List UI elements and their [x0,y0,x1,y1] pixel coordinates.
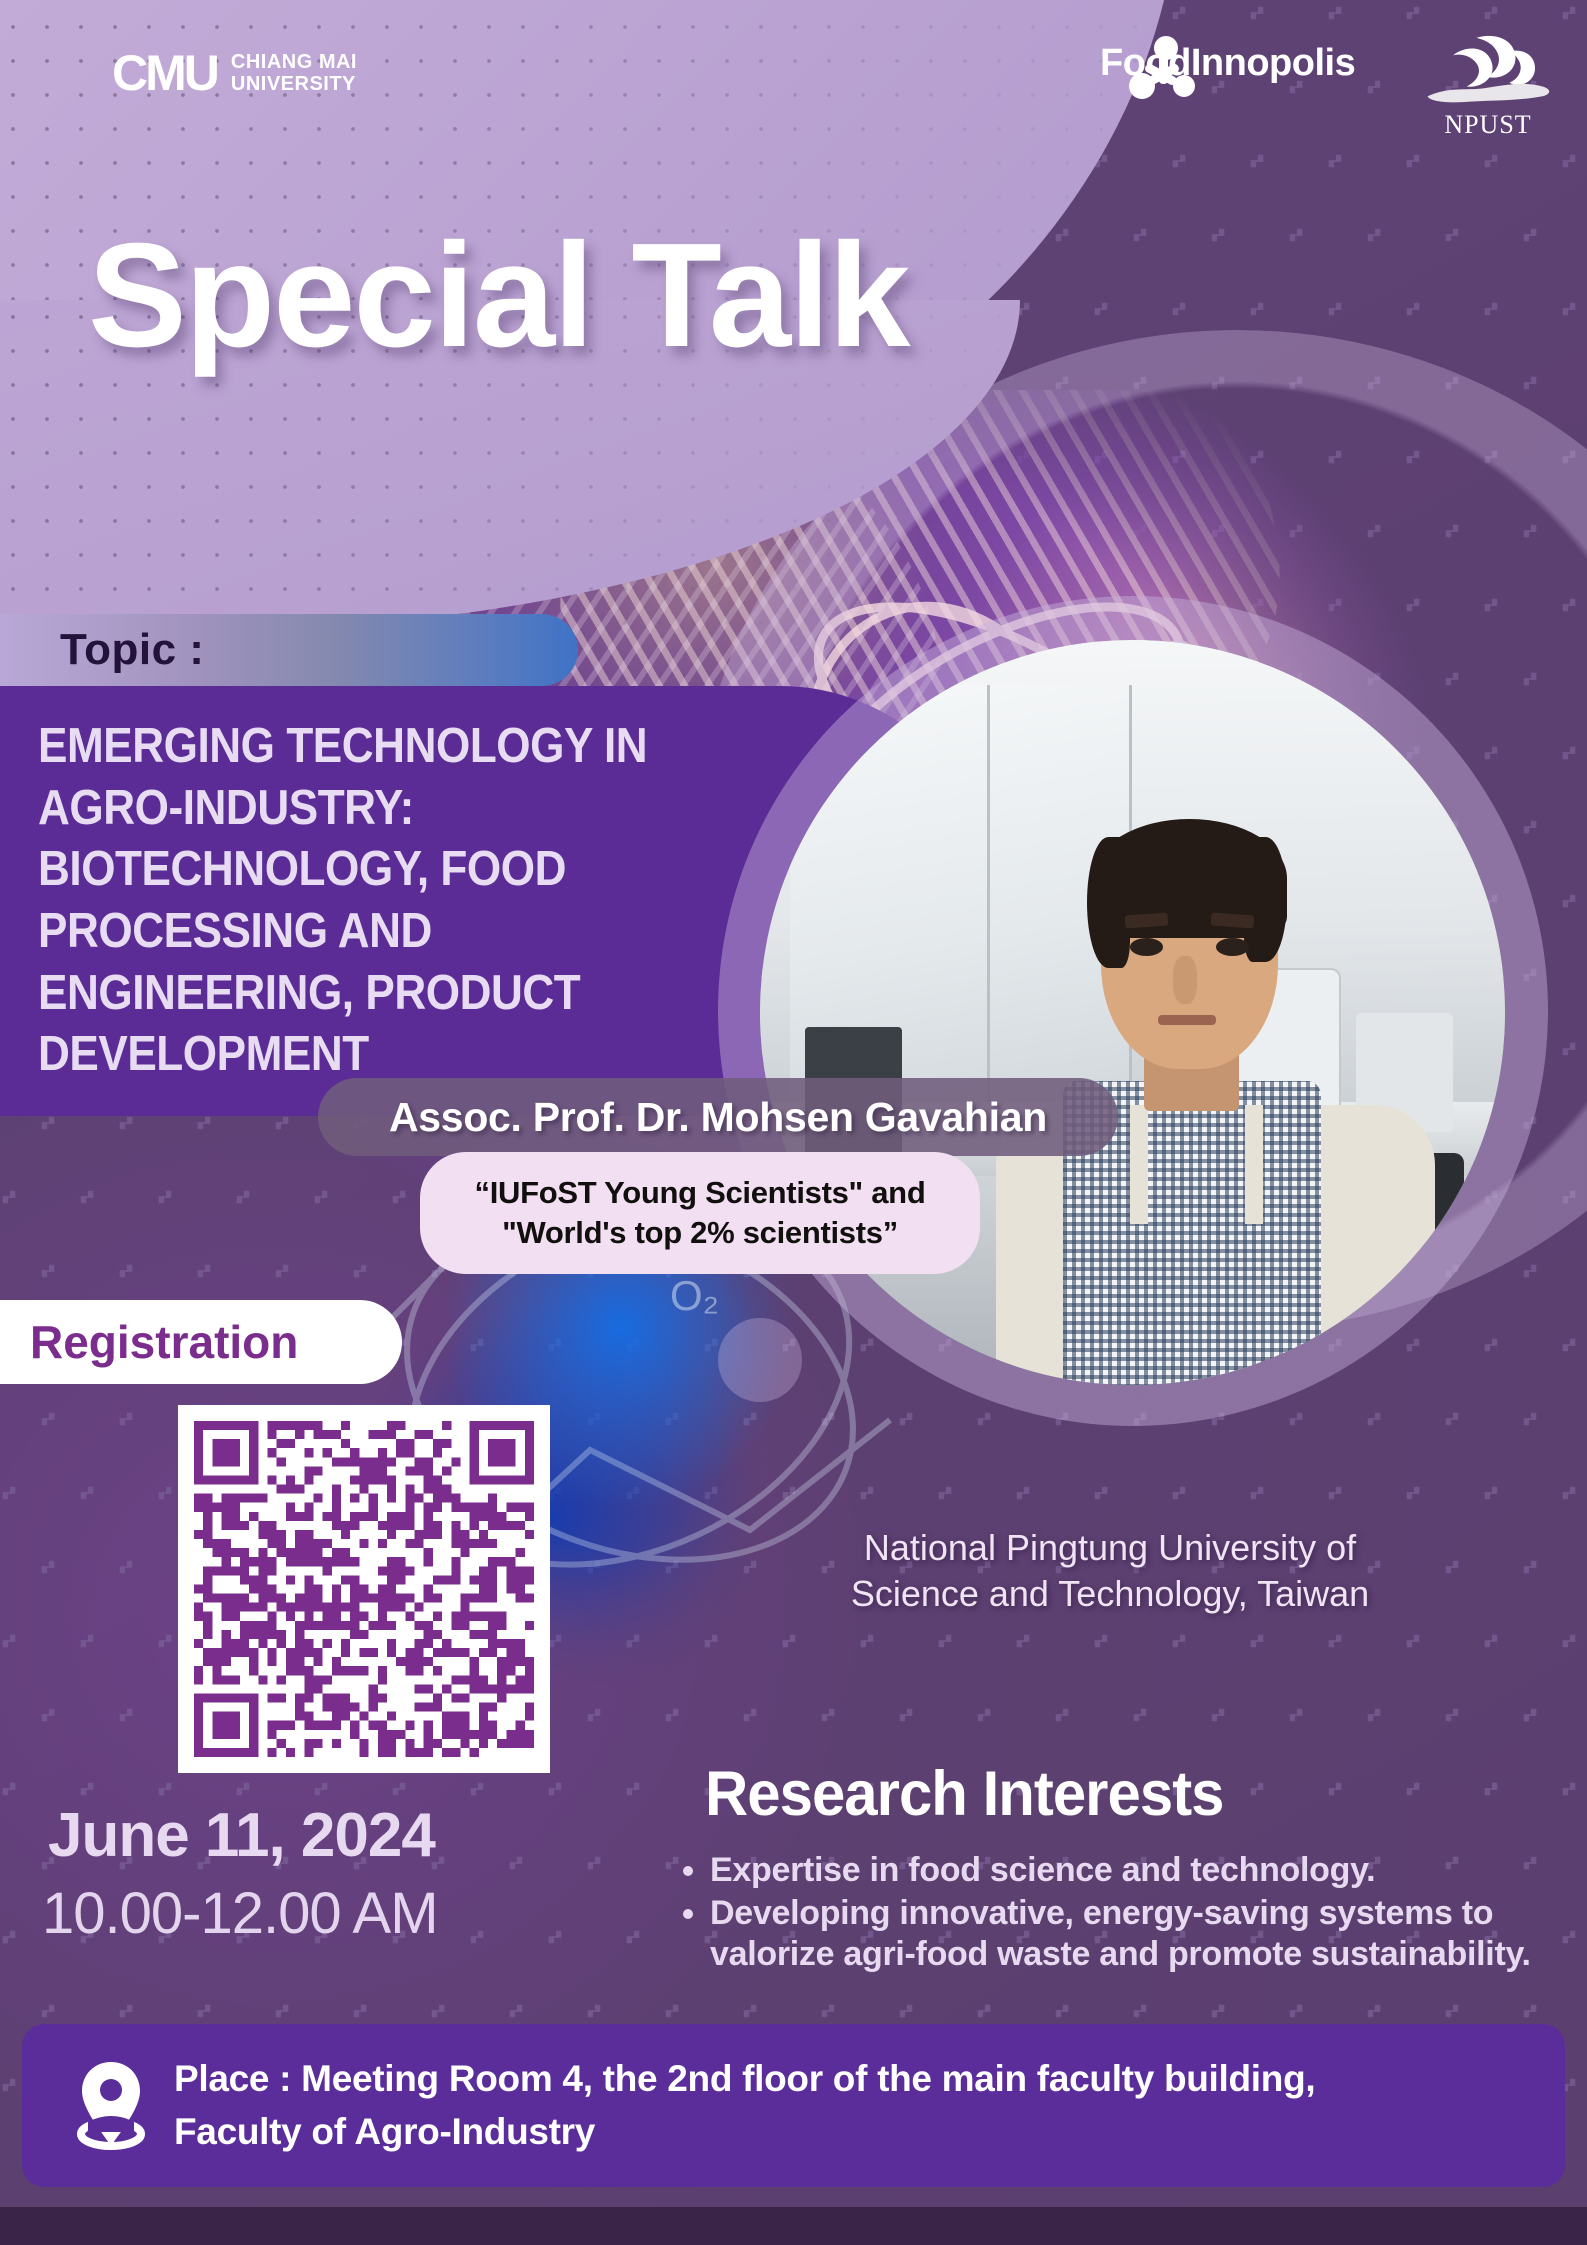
page-title: Special Talk [88,222,909,370]
sweater-vneck [1130,1105,1264,1224]
arrow-pattern-icon [585,1854,603,1872]
arrow-pattern-icon [1170,1632,1188,1650]
registration-label: Registration [30,1315,298,1369]
arrow-pattern-icon [468,1780,486,1798]
arrow-pattern-icon [1443,1706,1461,1724]
arrow-pattern-icon [1521,2002,1539,2020]
place-line-2: Faculty of Agro-Industry [174,2106,1315,2159]
arrow-pattern-icon [1560,300,1578,318]
award-line-1: “IUFoST Young Scientists" and [475,1175,926,1211]
arrow-pattern-icon [1404,1780,1422,1798]
arrow-pattern-icon [1443,226,1461,244]
event-time: 10.00-12.00 AM [42,1880,438,1947]
arrow-pattern-icon [1482,1484,1500,1502]
hair-side-right [1244,837,1287,962]
arrow-pattern-icon [1521,1262,1539,1280]
arrow-pattern-icon [1326,4,1344,22]
arrow-pattern-icon [1482,4,1500,22]
arrow-pattern-icon [39,2002,57,2020]
arrow-pattern-icon [1404,4,1422,22]
arrow-pattern-icon [1521,226,1539,244]
arrow-pattern-icon [1560,1336,1578,1354]
arrow-pattern-icon [39,1262,57,1280]
qr-canvas[interactable] [194,1421,534,1757]
speaker-award-badge: “IUFoST Young Scientists" and "World's t… [420,1152,980,1274]
arrow-pattern-icon [1248,152,1266,170]
arrow-pattern-icon [1482,1632,1500,1650]
arrow-pattern-icon [1404,300,1422,318]
svg-text:O₂: O₂ [670,1272,719,1319]
arrow-pattern-icon [1560,4,1578,22]
arrow-pattern-icon [1443,1410,1461,1428]
arrow-pattern-icon [195,1114,213,1132]
speaker-name-badge: Assoc. Prof. Dr. Mohsen Gavahian [318,1078,1118,1156]
arrow-pattern-icon [1365,226,1383,244]
arrow-pattern-icon [1482,152,1500,170]
arrow-pattern-icon [1248,1484,1266,1502]
arrow-pattern-icon [156,1188,174,1206]
arrow-pattern-icon [1092,1632,1110,1650]
arrow-pattern-icon [195,2002,213,2020]
arrow-pattern-icon [1365,1410,1383,1428]
arrow-pattern-icon [1365,1706,1383,1724]
arrow-pattern-icon [1521,1410,1539,1428]
hair-side-left [1087,837,1130,968]
registration-qr-code[interactable] [178,1405,550,1773]
event-date: June 11, 2024 [48,1800,435,1871]
arrow-pattern-icon [1365,78,1383,96]
arrow-pattern-icon [0,1780,18,1798]
arrow-pattern-icon [1482,1780,1500,1798]
arrow-pattern-icon [1326,1780,1344,1798]
arrow-pattern-icon [1248,4,1266,22]
arrow-pattern-icon [1326,300,1344,318]
eye-right [1216,938,1249,956]
arrow-pattern-icon [1560,1632,1578,1650]
arrow-pattern-icon [1014,1632,1032,1650]
arrow-pattern-icon [1092,1484,1110,1502]
arrow-pattern-icon [117,1558,135,1576]
arrow-pattern-icon [1287,2002,1305,2020]
arrow-pattern-icon [975,1706,993,1724]
npust-wordmark: NPUST [1418,110,1558,140]
speaker-name: Assoc. Prof. Dr. Mohsen Gavahian [389,1094,1047,1141]
arrow-pattern-icon [507,2002,525,2020]
affiliation-line-2: Science and Technology, Taiwan [760,1571,1460,1617]
npust-emblem-icon [1418,30,1558,108]
arrow-pattern-icon [429,2002,447,2020]
arrow-pattern-icon [117,1114,135,1132]
poster-root: N O₂ HO O [0,0,1587,2245]
arrow-pattern-icon [1014,1484,1032,1502]
arrow-pattern-icon [78,1188,96,1206]
topic-text: EMERGING TECHNOLOGY IN AGRO-INDUSTRY: BI… [38,716,758,1086]
arrow-pattern-icon [663,2002,681,2020]
foodinnopolis-logo: FoodInnopolis [1100,42,1355,85]
cmu-line-1: CHIANG MAI [231,51,357,73]
arrow-pattern-icon [0,1484,18,1502]
arrow-pattern-icon [351,2002,369,2020]
arrow-pattern-icon [1131,2002,1149,2020]
arrow-pattern-icon [1404,1484,1422,1502]
arrow-pattern-icon [585,2002,603,2020]
place-bar: Place : Meeting Room 4, the 2nd floor of… [22,2024,1565,2187]
arrow-pattern-icon [468,1928,486,1946]
arrow-pattern-icon [1248,300,1266,318]
arrow-pattern-icon [39,1706,57,1724]
arrow-pattern-icon [273,1114,291,1132]
arrow-pattern-icon [1131,1706,1149,1724]
arrow-pattern-icon [312,1188,330,1206]
arrow-pattern-icon [39,1114,57,1132]
arrow-pattern-icon [117,1262,135,1280]
arrow-pattern-icon [1365,2002,1383,2020]
arrow-pattern-icon [1560,152,1578,170]
arrow-pattern-icon [741,2002,759,2020]
bottom-strip [0,2207,1587,2245]
arrow-pattern-icon [897,2002,915,2020]
list-item: Expertise in food science and technology… [710,1850,1570,1891]
mouth [1158,1015,1215,1025]
arrow-pattern-icon [312,1780,330,1798]
place-line-1: Place : Meeting Room 4, the 2nd floor of… [174,2053,1315,2106]
arrow-pattern-icon [156,1484,174,1502]
arrow-pattern-icon [1248,1632,1266,1650]
arrow-pattern-icon [0,1188,18,1206]
arrow-pattern-icon [624,1780,642,1798]
arrow-pattern-icon [78,1780,96,1798]
arrow-pattern-icon [273,2002,291,2020]
arrow-pattern-icon [1326,152,1344,170]
arrow-pattern-icon [0,1632,18,1650]
registration-badge: Registration [0,1300,402,1384]
arrow-pattern-icon [78,1484,96,1502]
arrow-pattern-icon [39,1558,57,1576]
arrow-pattern-icon [546,1928,564,1946]
arrow-pattern-icon [117,1706,135,1724]
affiliation-line-1: National Pingtung University of [760,1525,1460,1571]
arrow-pattern-icon [1560,1484,1578,1502]
cmu-logo: CMU CHIANG MAI UNIVERSITY [112,48,357,98]
arrow-pattern-icon [1404,152,1422,170]
arrow-pattern-icon [390,1780,408,1798]
award-line-2: "World's top 2% scientists” [502,1215,898,1251]
topic-line-2: BIOTECHNOLOGY, FOOD PROCESSING AND [38,839,758,962]
arrow-pattern-icon [1521,1706,1539,1724]
arrow-pattern-icon [1053,1706,1071,1724]
arrow-pattern-icon [1170,1484,1188,1502]
arrow-pattern-icon [0,2076,18,2094]
arrow-pattern-icon [1287,1410,1305,1428]
arrow-pattern-icon [234,1780,252,1798]
arrow-pattern-icon [624,1928,642,1946]
arrow-pattern-icon [819,2002,837,2020]
arrow-pattern-icon [1443,2002,1461,2020]
research-interests-list: Expertise in food science and technology… [680,1850,1570,1976]
arrow-pattern-icon [117,1410,135,1428]
location-pin-icon [72,2058,150,2154]
arrow-pattern-icon [195,1262,213,1280]
arrow-pattern-icon [507,1854,525,1872]
cmu-line-2: UNIVERSITY [231,73,357,95]
arrow-pattern-icon [1326,1632,1344,1650]
topic-line-3: ENGINEERING, PRODUCT DEVELOPMENT [38,963,758,1086]
npust-logo: NPUST [1418,30,1558,140]
arrow-pattern-icon [1404,1632,1422,1650]
arrow-pattern-icon [1053,2002,1071,2020]
eye-left [1130,938,1163,956]
molecule-icon [1126,34,1202,110]
arrow-pattern-icon [546,1780,564,1798]
arrow-pattern-icon [117,2002,135,2020]
arrow-pattern-icon [39,1410,57,1428]
arrow-pattern-icon [78,1632,96,1650]
arrow-pattern-icon [1209,2002,1227,2020]
topic-line-1: EMERGING TECHNOLOGY IN AGRO-INDUSTRY: [38,716,758,839]
arrow-pattern-icon [156,1632,174,1650]
arrow-pattern-icon [663,1854,681,1872]
arrow-pattern-icon [1287,226,1305,244]
arrow-pattern-icon [975,1410,993,1428]
research-interests-title: Research Interests [705,1758,1224,1830]
arrow-pattern-icon [1287,1706,1305,1724]
place-text: Place : Meeting Room 4, the 2nd floor of… [174,2053,1315,2158]
arrow-pattern-icon [0,1928,18,1946]
topic-label-badge: Topic : [0,614,578,686]
arrow-pattern-icon [1248,1780,1266,1798]
arrow-pattern-icon [1560,1780,1578,1798]
arrow-pattern-icon [1521,1558,1539,1576]
nose [1173,956,1197,1004]
speaker-affiliation: National Pingtung University of Science … [760,1525,1460,1617]
arrow-pattern-icon [1326,1484,1344,1502]
cmu-mark-icon: CMU [112,48,217,98]
topic-label: Topic : [60,625,204,675]
arrow-pattern-icon [975,2002,993,2020]
arrow-pattern-icon [234,1188,252,1206]
arrow-pattern-icon [1209,1706,1227,1724]
cmu-wordmark: CHIANG MAI UNIVERSITY [231,51,357,96]
arrow-pattern-icon [273,1262,291,1280]
arrow-pattern-icon [1482,300,1500,318]
arrow-pattern-icon [156,1780,174,1798]
list-item: Developing innovative, energy-saving sys… [710,1893,1570,1975]
arrow-pattern-icon [1209,226,1227,244]
